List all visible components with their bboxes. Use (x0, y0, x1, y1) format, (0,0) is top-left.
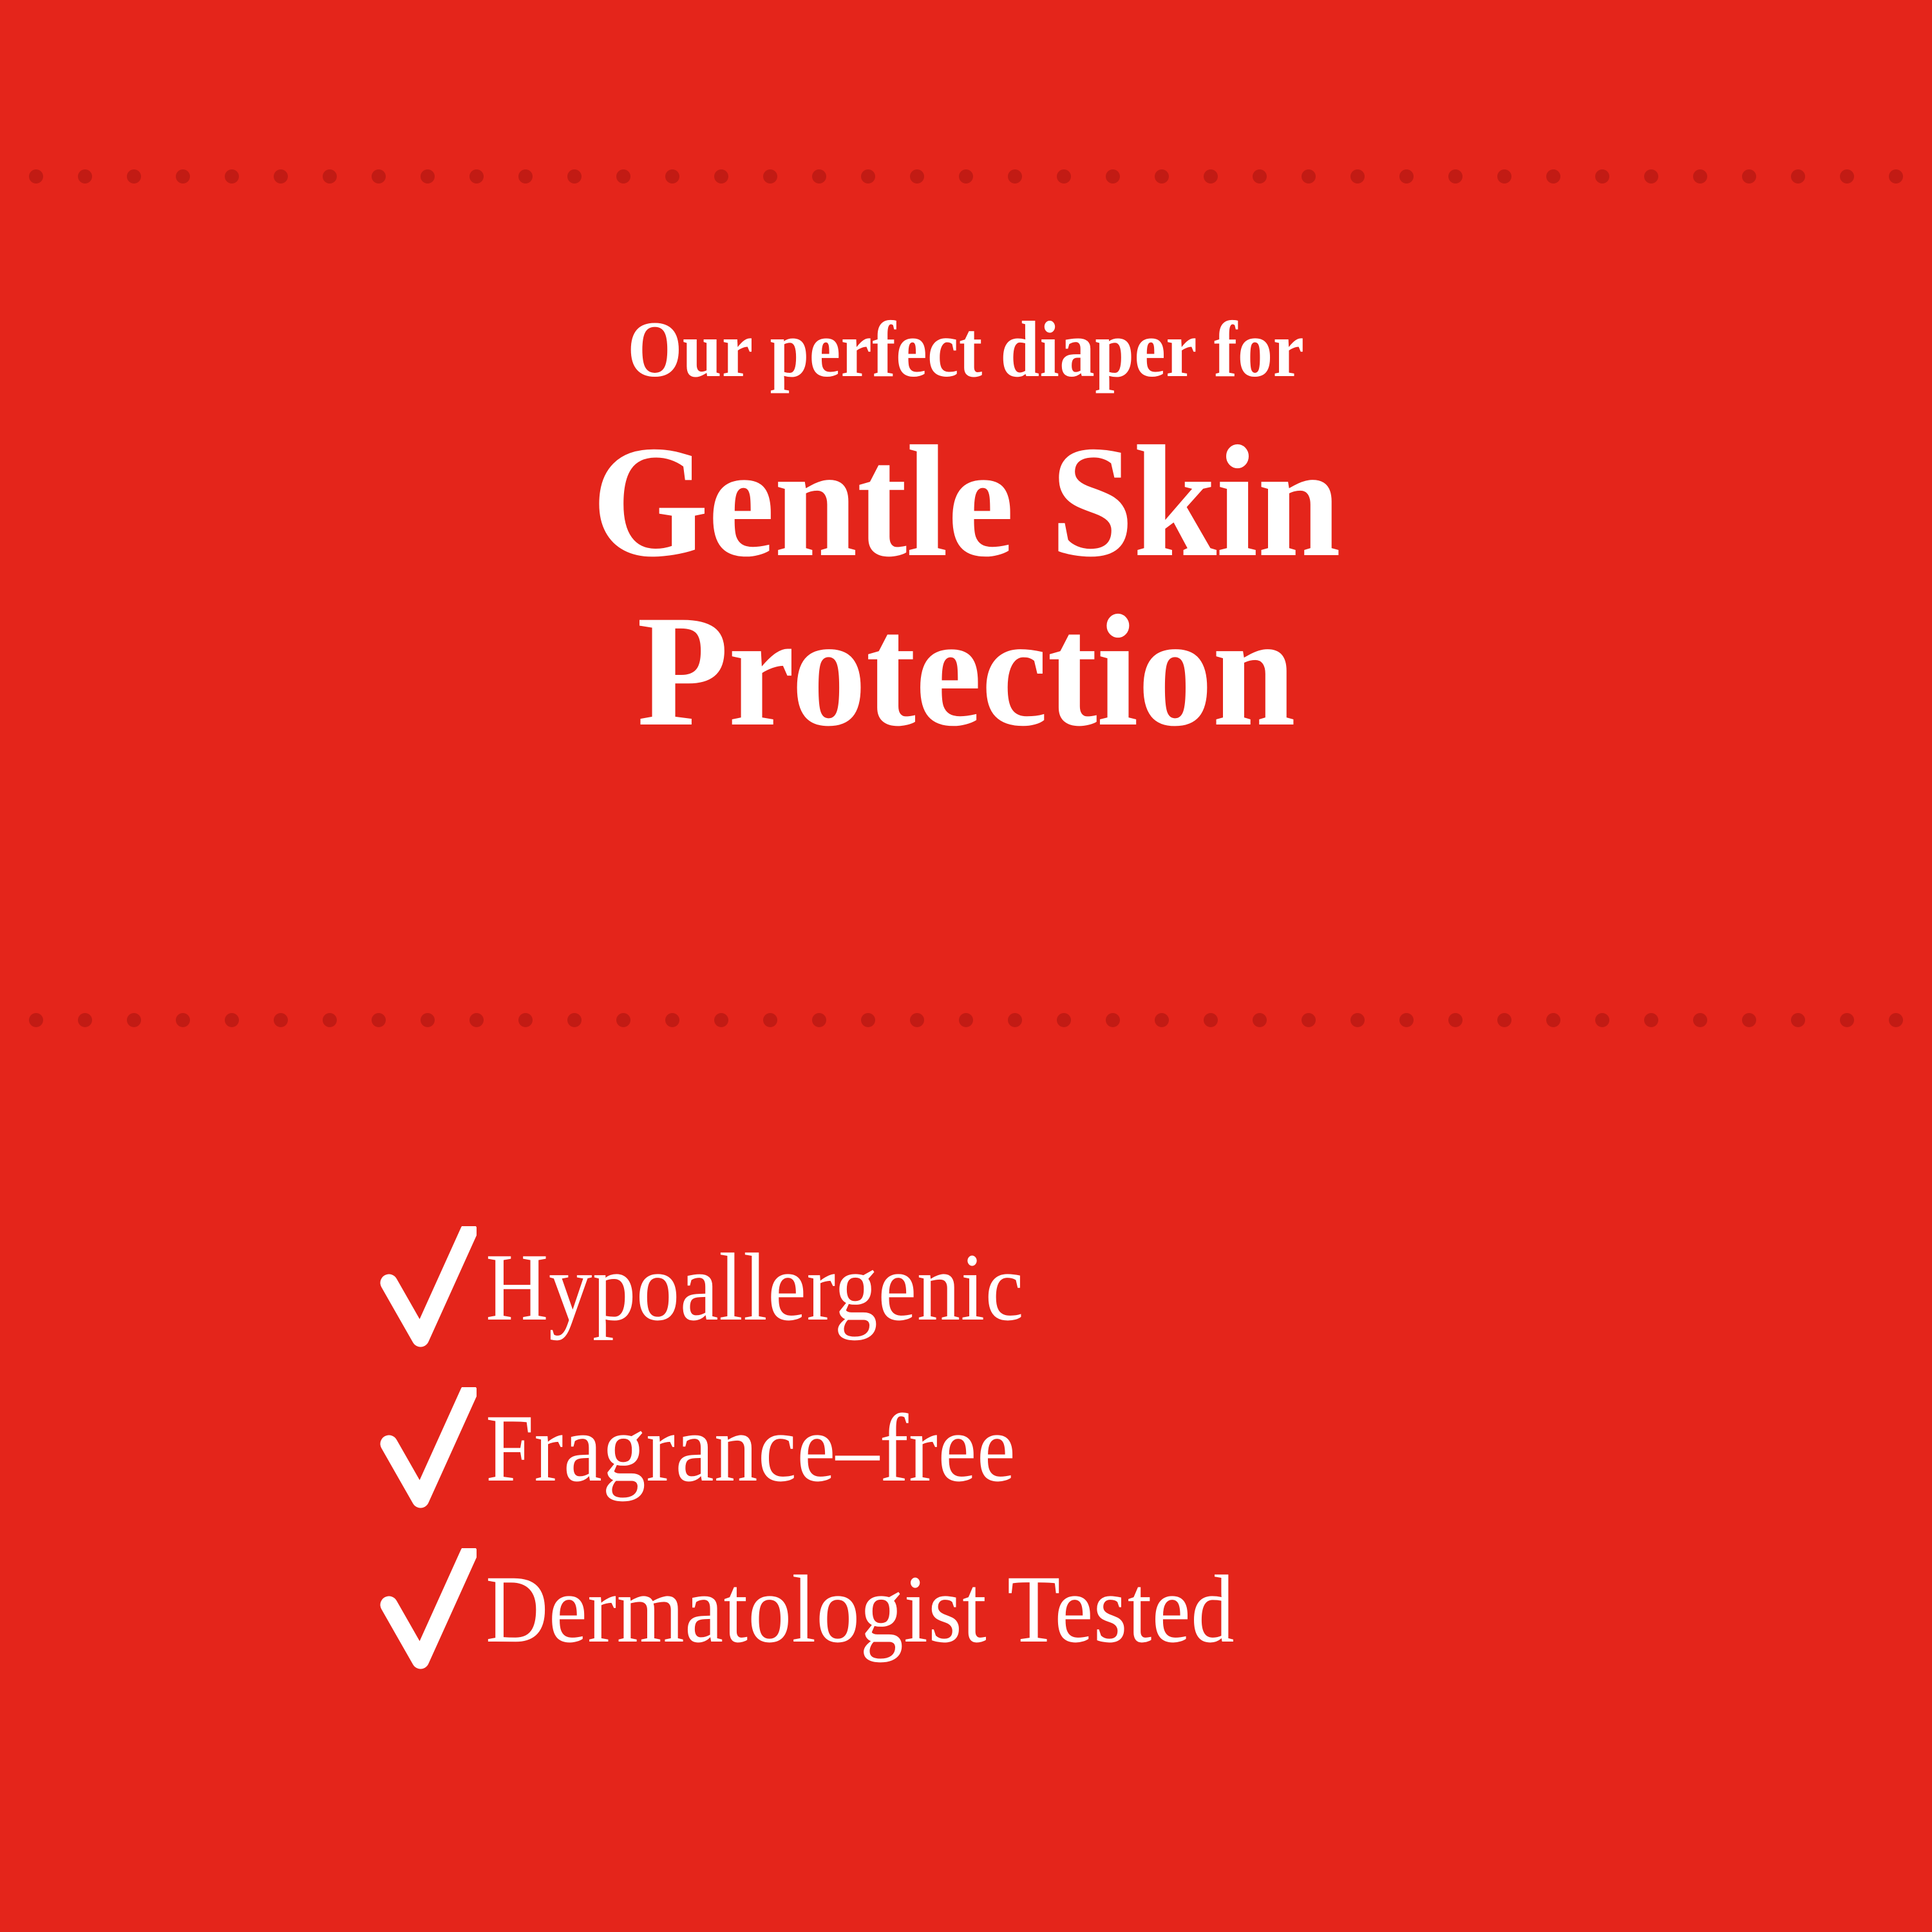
check-icon (380, 1226, 477, 1349)
separator-dot (29, 1013, 43, 1027)
separator-dot (1791, 169, 1805, 184)
separator-dot (274, 1013, 288, 1027)
eyebrow-text: Our perfect diaper for (116, 303, 1816, 397)
separator-dot (1008, 1013, 1022, 1027)
page-title: Gentle Skin Protection (58, 417, 1874, 756)
separator-dot (176, 169, 190, 184)
separator-dot (421, 1013, 435, 1027)
separator-dot (861, 169, 875, 184)
separator-dot (861, 1013, 875, 1027)
check-icon (380, 1387, 477, 1510)
separator-dot (1399, 169, 1414, 184)
separator-dot (1399, 1013, 1414, 1027)
separator-dot (910, 169, 924, 184)
separator-dot (1204, 1013, 1218, 1027)
separator-dot (127, 169, 141, 184)
separator-dot (1497, 1013, 1511, 1027)
promo-panel: Our perfect diaper for Gentle Skin Prote… (0, 0, 1932, 1932)
separator-dot (1595, 1013, 1609, 1027)
separator-dot (1693, 169, 1707, 184)
separator-dot (421, 169, 435, 184)
separator-dot (1742, 169, 1756, 184)
separator-dot (616, 169, 630, 184)
dotted-rule-bottom (0, 1013, 1932, 1028)
benefit-label: Fragrance–free (486, 1400, 1016, 1497)
separator-dot (469, 1013, 484, 1027)
benefit-label: Hypoallergenic (486, 1239, 1024, 1336)
separator-dot (29, 169, 43, 184)
separator-dot (225, 169, 239, 184)
benefit-list: Hypoallergenic Fragrance–free Dermatolog… (380, 1211, 1861, 1694)
separator-dot (1155, 169, 1169, 184)
separator-dot (714, 1013, 728, 1027)
separator-dot (812, 169, 826, 184)
page-title-line-1: Gentle Skin (58, 417, 1874, 587)
separator-dot (714, 169, 728, 184)
separator-dot (567, 169, 582, 184)
list-item: Hypoallergenic (380, 1211, 1861, 1364)
separator-dot (1057, 1013, 1071, 1027)
separator-dot (763, 169, 777, 184)
separator-dot (812, 1013, 826, 1027)
separator-dot (372, 1013, 386, 1027)
separator-dot (1302, 1013, 1316, 1027)
dotted-rule-top (0, 169, 1932, 185)
separator-dot (1302, 169, 1316, 184)
check-icon (380, 1548, 477, 1671)
separator-dot (372, 169, 386, 184)
separator-dot (763, 1013, 777, 1027)
separator-dot (1008, 169, 1022, 184)
separator-dot (1840, 1013, 1854, 1027)
list-item: Dermatologist Tested (380, 1533, 1861, 1686)
separator-dot (1155, 1013, 1169, 1027)
headline-block: Our perfect diaper for Gentle Skin Prote… (0, 303, 1932, 756)
separator-dot (1448, 1013, 1463, 1027)
separator-dot (176, 1013, 190, 1027)
separator-dot (274, 169, 288, 184)
separator-dot (78, 1013, 92, 1027)
separator-dot (225, 1013, 239, 1027)
separator-dot (616, 1013, 630, 1027)
separator-dot (1644, 169, 1658, 184)
separator-dot (665, 169, 679, 184)
separator-dot (1204, 169, 1218, 184)
separator-dot (1742, 1013, 1756, 1027)
list-item: Fragrance–free (380, 1372, 1861, 1525)
separator-dot (1693, 1013, 1707, 1027)
separator-dot (910, 1013, 924, 1027)
separator-dot (78, 169, 92, 184)
separator-dot (1106, 1013, 1120, 1027)
separator-dot (1644, 1013, 1658, 1027)
separator-dot (1057, 169, 1071, 184)
separator-dot (469, 169, 484, 184)
page-title-line-2: Protection (58, 587, 1874, 756)
separator-dot (1595, 169, 1609, 184)
separator-dot (1889, 1013, 1903, 1027)
separator-dot (518, 1013, 533, 1027)
separator-dot (323, 1013, 337, 1027)
separator-dot (1350, 169, 1365, 184)
separator-dot (127, 1013, 141, 1027)
separator-dot (665, 1013, 679, 1027)
separator-dot (1889, 169, 1903, 184)
separator-dot (1791, 1013, 1805, 1027)
separator-dot (1253, 169, 1267, 184)
separator-dot (1546, 1013, 1560, 1027)
separator-dot (959, 1013, 973, 1027)
separator-dot (959, 169, 973, 184)
benefit-label: Dermatologist Tested (486, 1561, 1235, 1658)
separator-dot (1350, 1013, 1365, 1027)
separator-dot (518, 169, 533, 184)
separator-dot (1497, 169, 1511, 184)
separator-dot (323, 169, 337, 184)
separator-dot (1546, 169, 1560, 184)
separator-dot (1106, 169, 1120, 184)
separator-dot (1840, 169, 1854, 184)
separator-dot (1253, 1013, 1267, 1027)
separator-dot (567, 1013, 582, 1027)
separator-dot (1448, 169, 1463, 184)
